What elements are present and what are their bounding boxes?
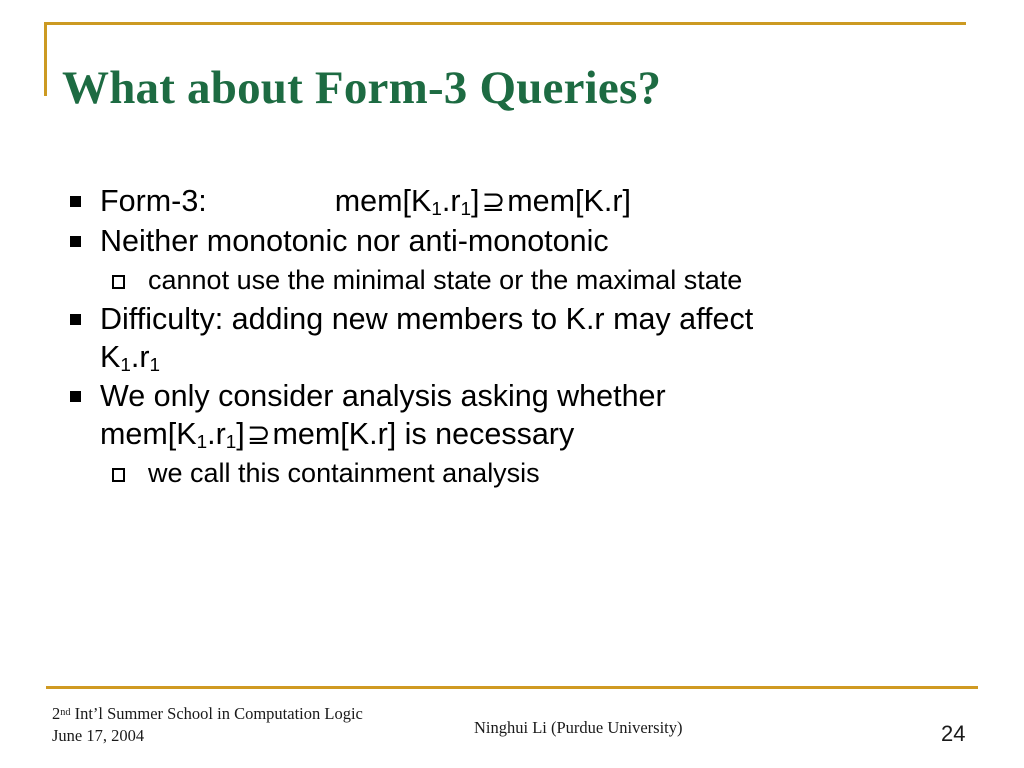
- bullet-text-line2-prefix: K: [100, 340, 120, 374]
- sub-bullet-item-containment-analysis: we call this containment analysis: [62, 457, 982, 490]
- bullet-text-line1: Difficulty: adding new members to K.r ma…: [100, 302, 753, 336]
- bullet-text-line2-close: ]: [236, 417, 244, 451]
- hollow-square-bullet-icon: [112, 275, 125, 289]
- filled-square-bullet-icon: [70, 236, 81, 247]
- title-top-rule: [44, 22, 966, 25]
- hollow-square-bullet-icon: [112, 468, 125, 482]
- bullet-text-line2-prefix: mem[K: [100, 417, 197, 451]
- page-number: 24: [941, 721, 965, 747]
- footer-line1-prefix: 2: [52, 704, 60, 723]
- footer-line1-rest: Int’l Summer School in Computation Logic: [70, 704, 362, 723]
- expr-subscript-2: 1: [461, 199, 472, 220]
- bullet-text: Neither monotonic nor anti-monotonic: [100, 224, 609, 258]
- bullet-label-form3: Form-3:: [100, 184, 207, 218]
- sub-bullet-text: we call this containment analysis: [148, 458, 540, 488]
- filled-square-bullet-icon: [70, 196, 81, 207]
- filled-square-bullet-icon: [70, 314, 81, 325]
- bullet-item-monotonic: Neither monotonic nor anti-monotonic: [62, 223, 982, 261]
- bullet-text-line2-tail: mem[K.r] is necessary: [273, 417, 575, 451]
- footer-ordinal-suffix: nd: [60, 707, 70, 718]
- expr-subscript-2: 1: [226, 432, 237, 453]
- bullet-text-line1: We only consider analysis asking whether: [100, 379, 666, 413]
- footer-date: June 17, 2004: [52, 726, 144, 745]
- expr-subscript-1: 1: [431, 199, 442, 220]
- bullet-list: Form-3:mem[K1.r1]⊇mem[K.r] Neither monot…: [62, 183, 982, 495]
- bullet-item-form3: Form-3:mem[K1.r1]⊇mem[K.r]: [62, 183, 982, 221]
- footer-conference-info: 2nd Int’l Summer School in Computation L…: [52, 703, 363, 747]
- expr-mid: .r: [442, 184, 461, 218]
- filled-square-bullet-icon: [70, 391, 81, 402]
- expr-prefix: mem[K: [335, 184, 432, 218]
- bullet-item-difficulty: Difficulty: adding new members to K.r ma…: [62, 301, 982, 376]
- expr-subscript-1: 1: [120, 355, 131, 376]
- superset-operator-icon: ⊇: [480, 185, 508, 218]
- expr-tail: mem[K.r]: [507, 184, 631, 218]
- footer-rule: [46, 686, 978, 689]
- bullet-text-line2-mid: .r: [131, 340, 150, 374]
- page-title: What about Form-3 Queries?: [62, 61, 962, 116]
- title-left-rule: [44, 22, 47, 96]
- bullet-text-line2-mid: .r: [207, 417, 226, 451]
- sub-bullet-text: cannot use the minimal state or the maxi…: [148, 265, 742, 295]
- expr-subscript-2: 1: [150, 355, 161, 376]
- slide: What about Form-3 Queries? Form-3:mem[K1…: [0, 0, 1024, 768]
- sub-bullet-item-minimal-state: cannot use the minimal state or the maxi…: [62, 264, 982, 297]
- bullet-item-containment: We only consider analysis asking whether…: [62, 378, 982, 453]
- expr-subscript-1: 1: [197, 432, 208, 453]
- footer-author: Ninghui Li (Purdue University): [474, 718, 683, 738]
- expr-close: ]: [471, 184, 479, 218]
- superset-operator-icon: ⊇: [245, 418, 273, 451]
